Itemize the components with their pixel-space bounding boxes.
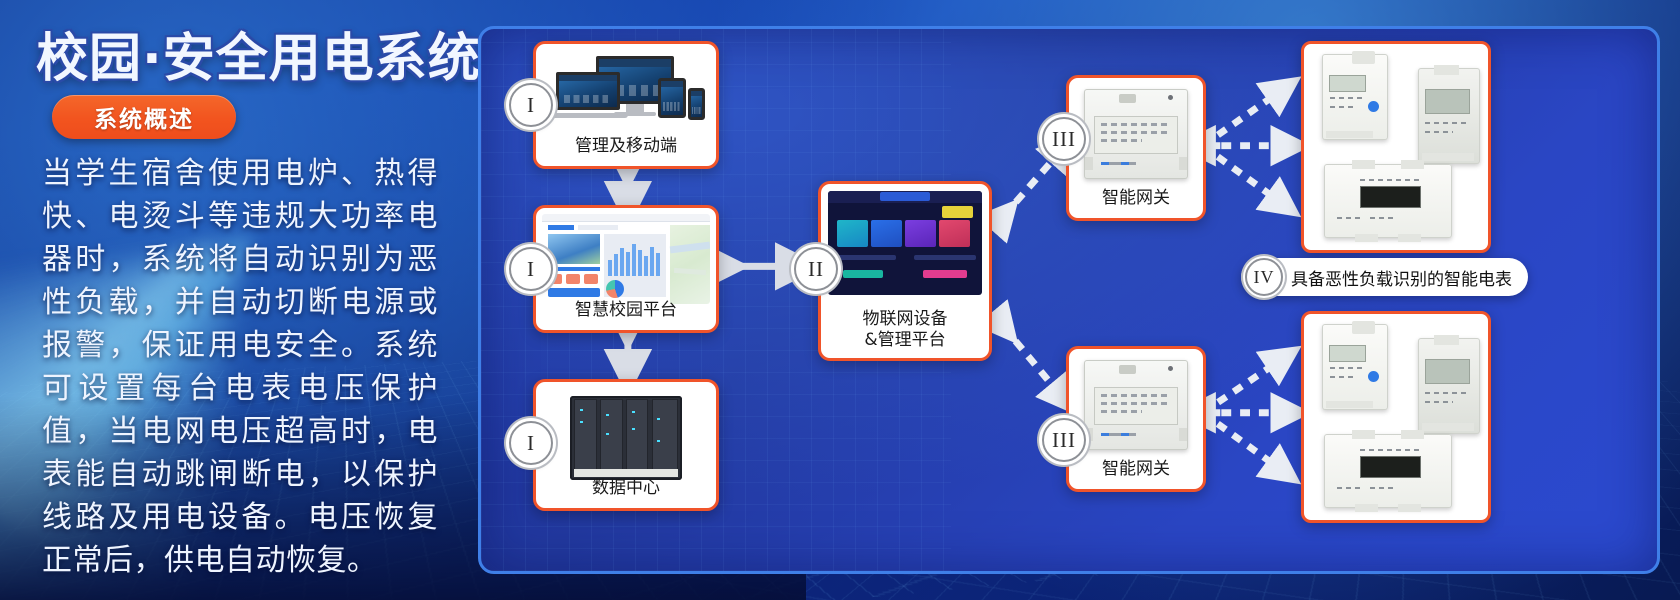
meter-panel-bottom[interactable] — [1301, 311, 1491, 523]
iot-screen-icon — [828, 191, 982, 295]
node-iot-platform-label: 物联网设备 &管理平台 — [821, 309, 989, 351]
system-diagram: 管理及移动端 I — [478, 26, 1660, 574]
node-gateway-top-label: 智能网关 — [1069, 188, 1203, 209]
node-iot-platform[interactable]: 物联网设备 &管理平台 — [818, 181, 992, 361]
node-data-center-numeral: I — [509, 421, 553, 465]
node-gateway-bottom-label: 智能网关 — [1069, 459, 1203, 480]
node-gateway-bottom[interactable]: 智能网关 — [1066, 346, 1206, 492]
node-admin-mobile-numeral: I — [509, 83, 553, 127]
node-gateway-top[interactable]: 智能网关 — [1066, 75, 1206, 221]
tablet-icon — [658, 78, 686, 118]
node-admin-mobile[interactable]: 管理及移动端 — [533, 41, 719, 169]
page-title: 校园·安全用电系统 — [36, 16, 481, 91]
node-gateway-top-numeral: III — [1042, 117, 1086, 161]
single-phase-meter-icon — [1322, 54, 1388, 140]
node-iot-platform-label-line1: 物联网设备 — [821, 309, 989, 330]
three-phase-meter-icon — [1418, 68, 1480, 164]
meter-panel-top[interactable] — [1301, 41, 1491, 253]
smart-meter-callout-label: 具备恶性负载识别的智能电表 — [1291, 265, 1512, 290]
node-iot-platform-label-line2: &管理平台 — [821, 330, 989, 351]
node-data-center[interactable]: 数据中心 — [533, 379, 719, 511]
overview-paragraph: 当学生宿舍使用电炉、热得快、电烫斗等违规大功率电器时，系统将自动识别为恶性负载，… — [42, 152, 438, 582]
server-rack-icon — [536, 396, 716, 480]
node-campus-platform-label: 智慧校园平台 — [536, 300, 716, 321]
node-admin-mobile-label: 管理及移动端 — [536, 136, 716, 157]
overview-panel: 校园·安全用电系统 系统概述 当学生宿舍使用电炉、热得快、电烫斗等违规大功率电器… — [0, 0, 478, 600]
gateway-device-icon — [1069, 87, 1203, 181]
din-rail-meter-icon — [1324, 434, 1452, 508]
smart-meter-callout[interactable]: IV 具备恶性负载识别的智能电表 — [1241, 258, 1528, 296]
node-campus-platform[interactable]: 智慧校园平台 — [533, 205, 719, 333]
node-data-center-label: 数据中心 — [536, 478, 716, 499]
section-badge-label: 系统概述 — [94, 100, 194, 134]
dashboard-map-icon — [542, 214, 710, 304]
din-rail-meter-icon — [1324, 164, 1452, 238]
section-badge: 系统概述 — [52, 95, 236, 139]
node-gateway-bottom-numeral: III — [1042, 418, 1086, 462]
smart-meter-callout-numeral: IV — [1245, 258, 1283, 296]
three-phase-meter-icon — [1418, 338, 1480, 434]
node-iot-platform-numeral: II — [794, 247, 838, 291]
laptop-icon — [556, 72, 620, 110]
devices-icon — [536, 54, 716, 136]
phone-icon — [688, 88, 705, 120]
gateway-device-icon — [1069, 358, 1203, 452]
node-campus-platform-numeral: I — [509, 247, 553, 291]
single-phase-meter-icon — [1322, 324, 1388, 410]
